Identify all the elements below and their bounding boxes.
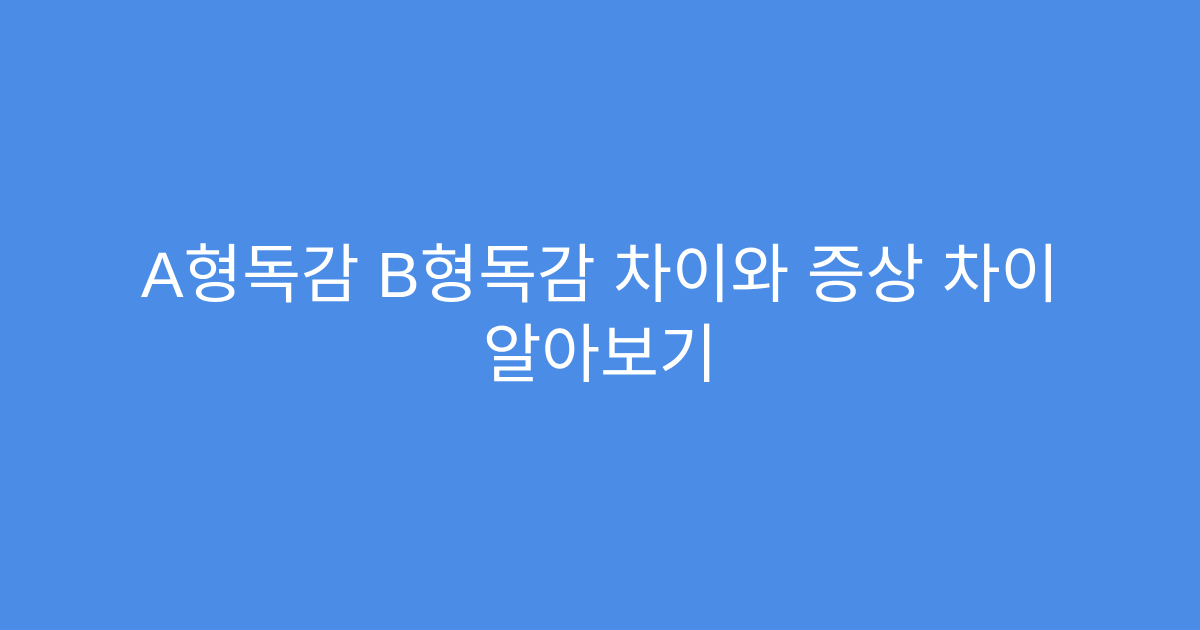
og-image-card: A형독감 B형독감 차이와 증상 차이 알아보기	[0, 0, 1200, 630]
page-title: A형독감 B형독감 차이와 증상 차이 알아보기	[60, 235, 1140, 395]
